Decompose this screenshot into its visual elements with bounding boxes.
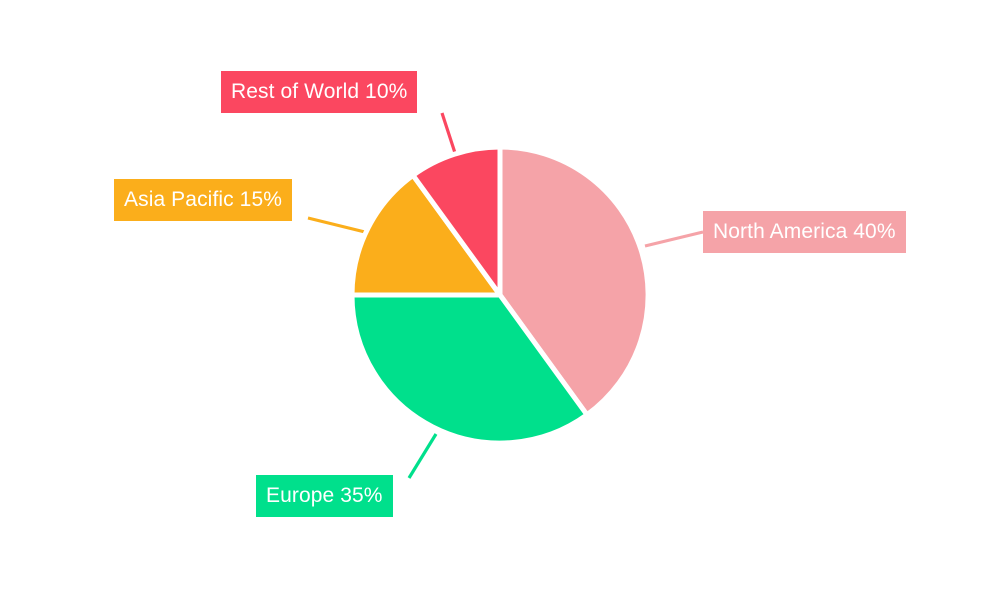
pie-chart-figure: North America 40% Europe 35% Asia Pacifi… xyxy=(0,0,1000,600)
pie-label-rest-of-world[interactable]: Rest of World 10% xyxy=(221,71,417,113)
leader-line-north-america xyxy=(645,232,703,246)
leader-line-rest-of-world xyxy=(442,113,456,156)
pie-slices-group xyxy=(352,147,648,443)
pie-label-asia-pacific-text: Asia Pacific 15% xyxy=(124,179,282,221)
pie-label-europe[interactable]: Europe 35% xyxy=(256,475,393,517)
pie-label-europe-text: Europe 35% xyxy=(266,475,383,517)
pie-label-rest-of-world-text: Rest of World 10% xyxy=(231,71,407,113)
pie-label-north-america[interactable]: North America 40% xyxy=(703,211,906,253)
leader-line-europe xyxy=(409,434,436,478)
pie-label-asia-pacific[interactable]: Asia Pacific 15% xyxy=(114,179,292,221)
leader-line-asia-pacific xyxy=(308,218,369,233)
pie-chart-canvas xyxy=(0,0,1000,600)
pie-label-north-america-text: North America 40% xyxy=(713,211,896,253)
